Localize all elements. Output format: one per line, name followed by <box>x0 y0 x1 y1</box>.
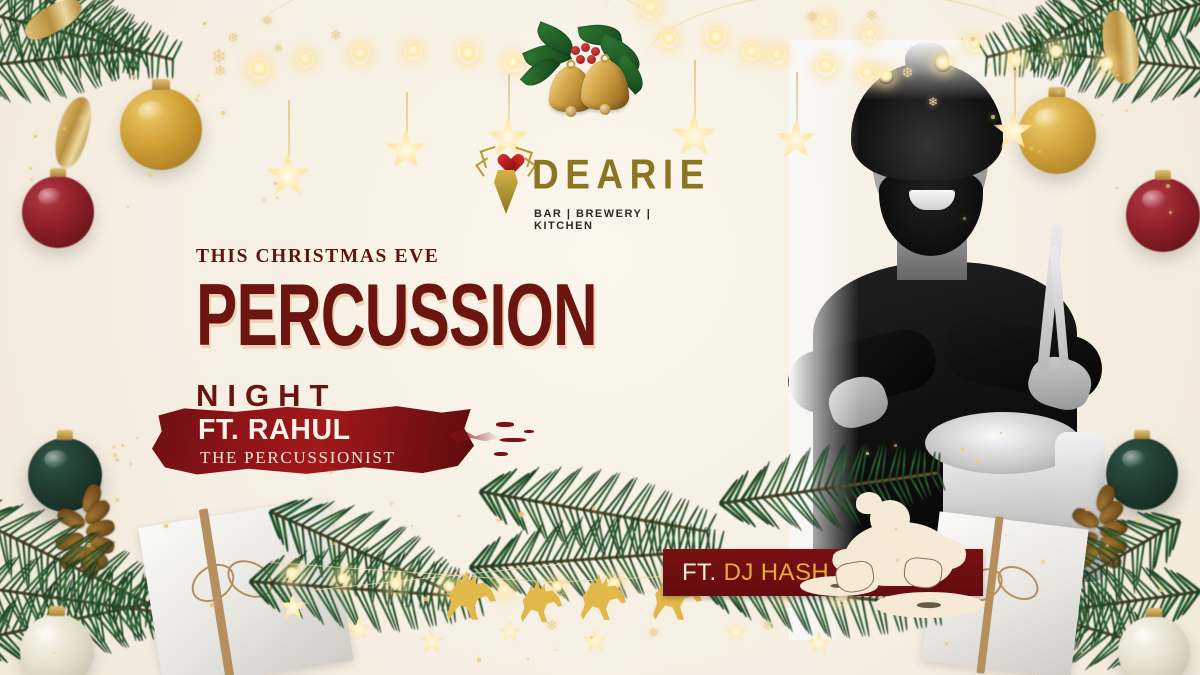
gold-sparkle <box>708 598 710 600</box>
gold-sparkle <box>30 178 33 181</box>
gold-sparkle <box>896 559 899 562</box>
gold-sparkle <box>115 498 119 502</box>
gold-sparkle <box>87 543 91 547</box>
gold-sparkle <box>1090 48 1093 51</box>
christmas-event-poster: ❄ ❅ ❆ ❄ ❅ ❄ ❅ ❄ ❆ ❄ <box>0 0 1200 675</box>
logo-wordmark: DEARIE <box>532 151 711 198</box>
dj-turntable-silhouette <box>826 492 1016 620</box>
snowflake-icon: ❄ <box>866 8 878 22</box>
gold-sparkle <box>333 542 336 545</box>
artist-banner: FT. RAHUL THE PERCUSSIONIST <box>152 404 474 476</box>
gold-bauble-top-left <box>120 88 202 170</box>
gold-sparkle <box>203 22 206 25</box>
gold-sparkle <box>1039 103 1042 106</box>
snowflake-icon: ❅ <box>274 44 283 55</box>
gold-sparkle <box>961 38 963 40</box>
gold-sparkle <box>894 444 897 447</box>
gold-sparkle <box>127 206 129 208</box>
gold-sparkle <box>113 453 117 457</box>
turntable-right <box>874 592 984 618</box>
page-title: PERCUSSION <box>196 274 600 357</box>
artist-name: FT. RAHUL <box>198 414 351 447</box>
snowflake-icon: ❄ <box>928 96 938 108</box>
gold-sparkle <box>112 445 116 449</box>
gold-sparkle <box>274 182 277 185</box>
snowflake-icon: ❄ <box>330 28 342 42</box>
red-bauble-left <box>22 176 94 248</box>
gold-sparkle <box>1166 184 1170 188</box>
heart-icon <box>494 146 518 168</box>
gold-sparkle <box>295 566 299 570</box>
gold-sparkle <box>136 437 138 439</box>
snowflake-icon: ❅ <box>806 10 819 25</box>
eyebrow-text: THIS CHRISTMAS EVE <box>196 246 666 268</box>
gold-sparkle <box>115 458 119 462</box>
snowflake-icon: ❄ <box>762 618 774 632</box>
dearie-logo: DEARIE BAR | BREWERY | KITCHEN <box>480 142 695 232</box>
dj-prefix: FT. <box>682 559 724 586</box>
gold-sparkle <box>133 75 136 78</box>
gold-sparkle <box>1125 109 1128 112</box>
gold-sparkle <box>1030 147 1033 150</box>
gold-sparkle <box>1116 187 1118 189</box>
snowflake-icon: ❅ <box>262 14 273 27</box>
snowflake-icon: ❄ <box>546 618 558 632</box>
gold-sparkle <box>519 512 524 517</box>
gold-sparkle <box>111 635 113 637</box>
gold-sparkle <box>53 91 56 94</box>
gold-sparkle <box>991 115 995 119</box>
snowflake-icon: ❆ <box>902 66 913 79</box>
gold-sparkle <box>197 94 200 97</box>
snowflake-icon: ❄ <box>211 48 227 67</box>
snowflake-icon: ❆ <box>228 32 238 44</box>
snowflake-icon: ❅ <box>648 626 659 639</box>
jingle-bells <box>519 22 649 122</box>
gold-sparkle <box>477 658 481 662</box>
pinecone-left <box>56 498 118 560</box>
gold-sparkle <box>555 649 557 651</box>
gold-sparkle <box>963 217 966 220</box>
gold-sparkle <box>497 519 500 522</box>
logo-tagline: BAR | BREWERY | KITCHEN <box>534 208 695 232</box>
gold-sparkle <box>34 135 37 138</box>
gold-sparkle <box>1000 432 1002 434</box>
stag-head-icon <box>494 170 518 214</box>
gold-sparkle <box>53 652 55 654</box>
gold-sparkle <box>895 528 897 530</box>
artist-role: THE PERCUSSIONIST <box>200 448 396 468</box>
gold-sparkle <box>1159 588 1163 592</box>
gold-sparkle <box>1081 651 1083 653</box>
gold-sparkle <box>971 37 975 41</box>
gold-sparkle <box>987 64 990 67</box>
gold-sparkle <box>130 463 132 465</box>
gold-sparkle <box>590 636 593 639</box>
gold-sparkle <box>976 460 979 463</box>
gold-sparkle <box>164 524 168 528</box>
gold-sparkle <box>424 597 428 601</box>
headline-block: THIS CHRISTMAS EVE PERCUSSION NIGHT <box>196 246 666 414</box>
red-bauble-right <box>1126 178 1200 252</box>
